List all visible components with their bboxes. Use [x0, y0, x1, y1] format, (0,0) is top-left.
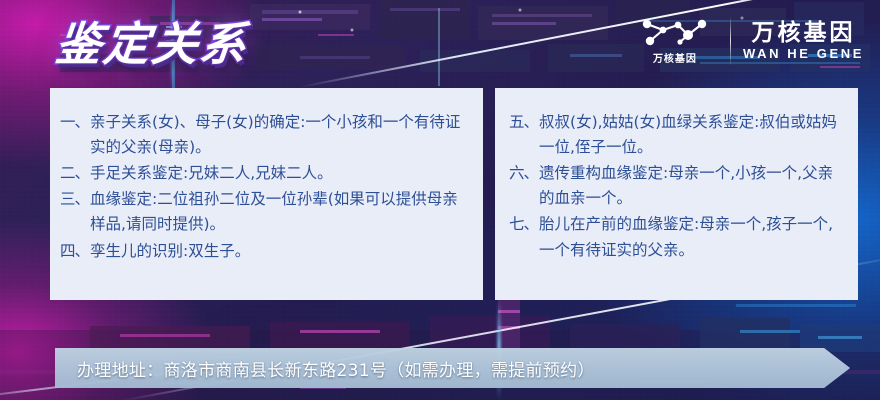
- poster-header: 鉴定关系: [0, 0, 880, 88]
- list-item-number: 七、: [509, 212, 539, 237]
- panel-divider-gap: [483, 88, 495, 300]
- molecule-network-icon: [638, 17, 712, 47]
- logo-name-en: WAN HE GENE: [743, 46, 864, 63]
- list-item-text: 胎儿在产前的血缘鉴定:母亲一个,孩子一个,一个有待证实的父亲。: [539, 212, 846, 262]
- list-item: 二、 手足关系鉴定:兄妹二人,兄妹二人。: [60, 161, 467, 186]
- panel-right: 五、 叔叔(女),姑姑(女)血绿关系鉴定:叔伯或姑妈一位,侄子一位。 六、 遗传…: [495, 88, 858, 300]
- list-item: 六、 遗传重构血缘鉴定:母亲一个,小孩一个,父亲的血亲一个。: [509, 161, 846, 211]
- logo-mark-label: 万核基因: [653, 50, 697, 65]
- list-item-number: 四、: [60, 239, 90, 264]
- list-item-text: 亲子关系(女)、母子(女)的确定:一个小孩和一个有待证实的父亲(母亲)。: [90, 110, 467, 160]
- address-bar: 办理地址：商洛市商南县长新东路231号（如需办理，需提前预约）: [55, 348, 850, 388]
- page-title: 鉴定关系: [53, 8, 252, 74]
- list-item-number: 六、: [509, 161, 539, 186]
- list-item: 五、 叔叔(女),姑姑(女)血绿关系鉴定:叔伯或姑妈一位,侄子一位。: [509, 110, 846, 160]
- list-item-number: 五、: [509, 110, 539, 135]
- content-panels: 一、 亲子关系(女)、母子(女)的确定:一个小孩和一个有待证实的父亲(母亲)。 …: [50, 88, 858, 300]
- list-item-text: 孪生儿的识别:双生子。: [90, 239, 467, 264]
- logo-divider: [730, 17, 731, 65]
- list-item-text: 遗传重构血缘鉴定:母亲一个,小孩一个,父亲的血亲一个。: [539, 161, 846, 211]
- list-item-number: 二、: [60, 161, 90, 186]
- list-item-text: 叔叔(女),姑姑(女)血绿关系鉴定:叔伯或姑妈一位,侄子一位。: [539, 110, 846, 160]
- address-bar-content: 办理地址：商洛市商南县长新东路231号（如需办理，需提前预约）: [55, 348, 850, 388]
- logo-mark: 万核基因: [632, 17, 718, 65]
- list-item: 七、 胎儿在产前的血缘鉴定:母亲一个,孩子一个,一个有待证实的父亲。: [509, 212, 846, 262]
- poster-root: 鉴定关系: [0, 0, 880, 400]
- list-item-text: 血缘鉴定:二位祖孙二位及一位孙辈(如果可以提供母亲样品,请同时提供)。: [90, 187, 467, 237]
- logo-name-cn: 万核基因: [751, 19, 855, 45]
- list-item-text: 手足关系鉴定:兄妹二人,兄妹二人。: [90, 161, 467, 186]
- list-item: 一、 亲子关系(女)、母子(女)的确定:一个小孩和一个有待证实的父亲(母亲)。: [60, 110, 467, 160]
- list-item: 三、 血缘鉴定:二位祖孙二位及一位孙辈(如果可以提供母亲样品,请同时提供)。: [60, 187, 467, 237]
- address-text: 办理地址：商洛市商南县长新东路231号（如需办理，需提前预约）: [77, 356, 595, 381]
- list-item-number: 一、: [60, 110, 90, 135]
- list-item-number: 三、: [60, 187, 90, 212]
- panel-left: 一、 亲子关系(女)、母子(女)的确定:一个小孩和一个有待证实的父亲(母亲)。 …: [50, 88, 483, 300]
- brand-logo[interactable]: 万核基因 万核基因 WAN HE GENE: [632, 14, 864, 68]
- logo-wordmark: 万核基因 WAN HE GENE: [743, 19, 864, 62]
- list-item: 四、 孪生儿的识别:双生子。: [60, 239, 467, 264]
